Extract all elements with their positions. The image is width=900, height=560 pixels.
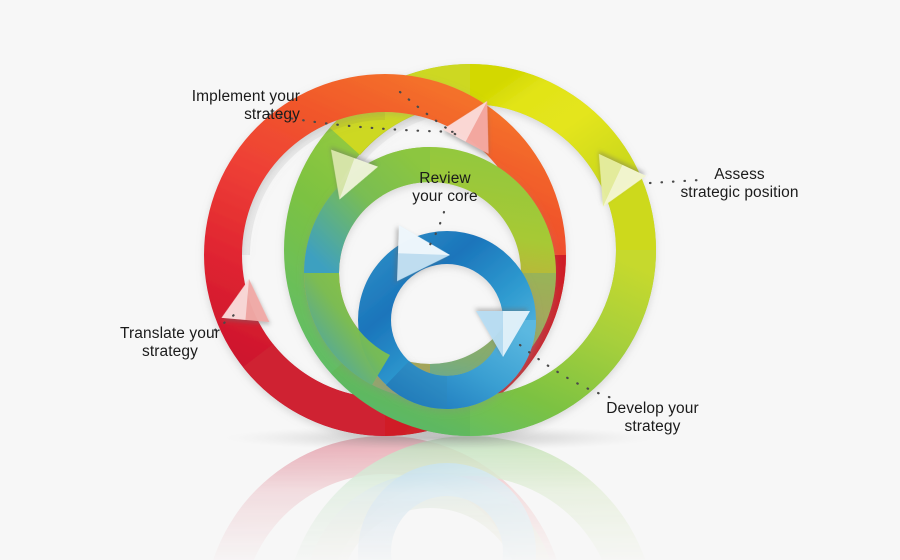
reflection-group xyxy=(204,436,656,560)
label-develop-your-strategy: Develop your strategy xyxy=(570,400,735,436)
diagram-stage: Implement your strategy Translate your s… xyxy=(0,0,900,560)
label-translate-your-strategy: Translate your strategy xyxy=(100,325,240,361)
label-assess-strategic-position: Assess strategic position xyxy=(652,166,827,202)
cycle-diagram xyxy=(0,0,900,560)
label-review-your-core: Review your core xyxy=(385,170,505,206)
label-implement-your-strategy: Implement your strategy xyxy=(150,88,300,124)
